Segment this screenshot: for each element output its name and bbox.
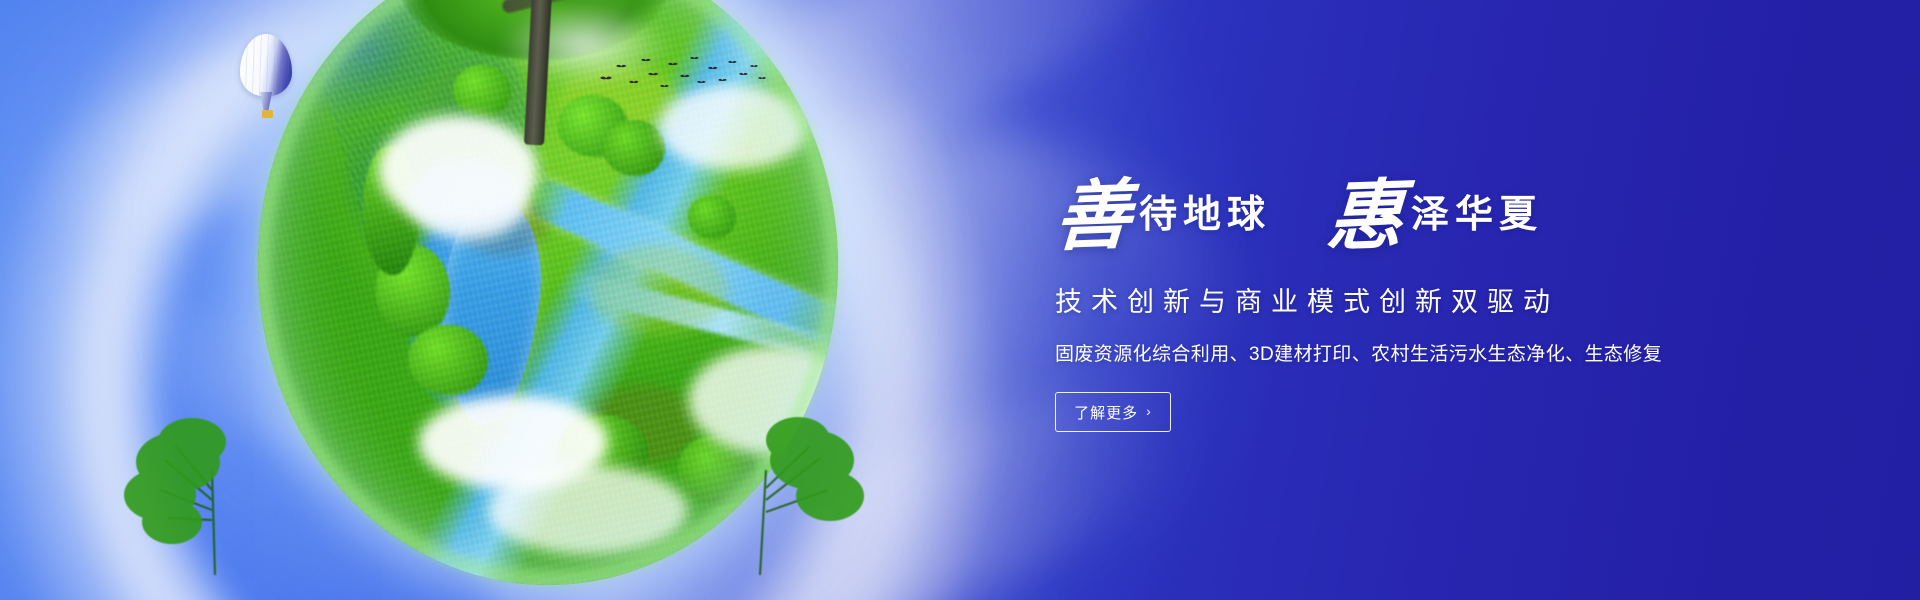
globe-rim-glow (258, 0, 838, 585)
tree-icon (363, 145, 419, 275)
globe-sphere (258, 0, 838, 585)
headline-brush-char-2: 惠 (1325, 177, 1407, 256)
tree-icon (558, 415, 648, 487)
chevron-right-icon: › (1146, 404, 1152, 418)
hero-headline: 善 待地球 惠 泽华夏 (1055, 168, 1815, 264)
river-icon (520, 174, 838, 357)
tree-icon (678, 435, 756, 505)
tree-icon (688, 195, 736, 239)
headline-brush-char-1: 善 (1053, 177, 1135, 256)
hero-description: 固废资源化综合利用、3D建材打印、农村生活污水生态净化、生态修复 (1055, 339, 1815, 366)
tree-icon (376, 245, 450, 337)
grass-patch (458, 195, 548, 255)
grass-patch (588, 245, 728, 335)
tree-icon (603, 120, 665, 176)
cloud-icon (688, 345, 838, 455)
grass-texture (258, 0, 838, 585)
globe-mountain-ridge (282, 0, 584, 274)
tree-icon (453, 65, 511, 117)
river-branch (559, 269, 838, 367)
learn-more-label: 了解更多 (1074, 402, 1138, 423)
hero-banner: 善 待地球 惠 泽华夏 技术创新与商业模式创新双驱动 固废资源化综合利用、3D建… (0, 0, 1920, 600)
hero-subtitle: 技术创新与商业模式创新双驱动 (1055, 280, 1815, 319)
cloud-icon (378, 115, 538, 225)
grass-patch (558, 65, 678, 135)
globe-illustration (258, 0, 858, 600)
globe-ridge-texture (305, 0, 551, 242)
hero-content: 善 待地球 惠 泽华夏 技术创新与商业模式创新双驱动 固废资源化综合利用、3D建… (1055, 0, 1815, 600)
tree-icon (408, 325, 488, 395)
lake-shore (419, 179, 563, 442)
cloud-icon (488, 465, 688, 555)
grass-patch (588, 385, 698, 465)
headline-phrase-1: 待地球 (1139, 195, 1271, 237)
cloud-icon (408, 160, 528, 240)
learn-more-button[interactable]: 了解更多 › (1055, 392, 1171, 432)
cloud-icon (658, 85, 808, 170)
tree-icon (558, 95, 628, 157)
headline-phrase-2: 泽华夏 (1411, 195, 1543, 237)
grass-patch (418, 65, 518, 135)
cloud-icon (418, 395, 608, 490)
lake-icon (432, 196, 550, 430)
